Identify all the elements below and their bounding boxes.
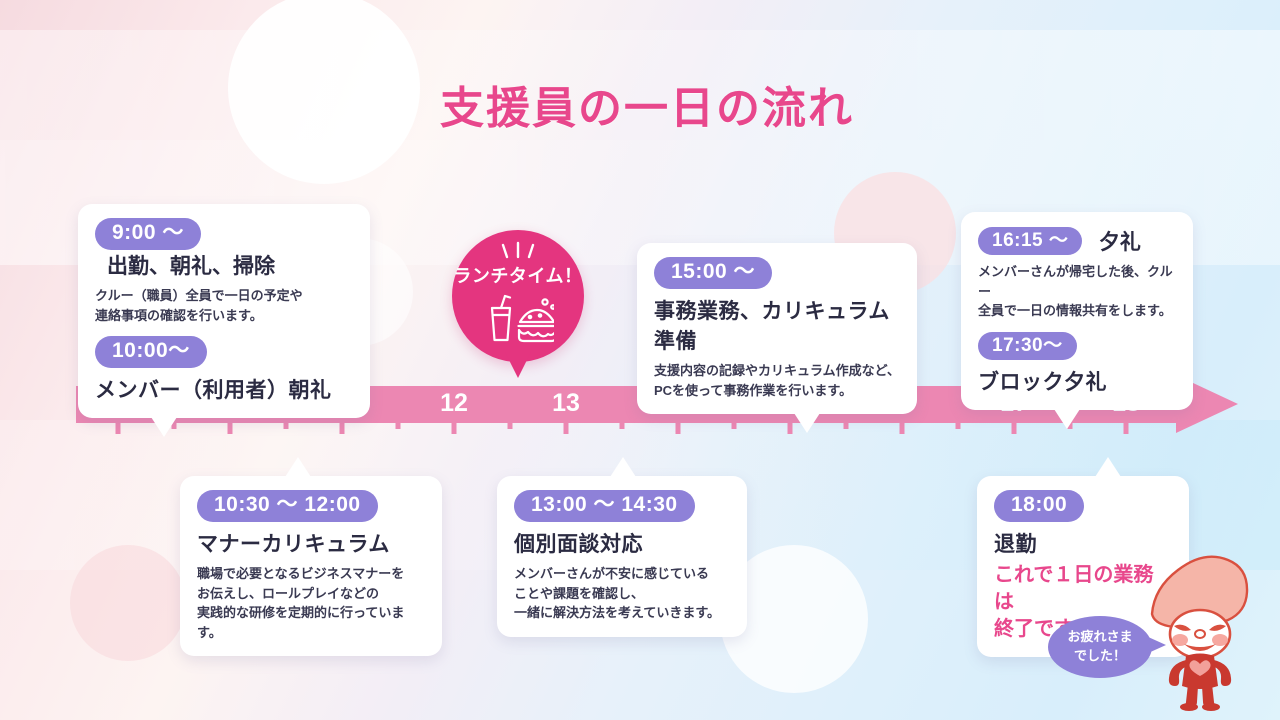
- timeline-tick-major: [228, 423, 233, 434]
- timeline-tick-major: [900, 423, 905, 434]
- heading-evening-meeting: 夕礼: [1099, 226, 1141, 256]
- card-pointer-office: [794, 413, 820, 433]
- burger-drink-icon: [482, 292, 554, 349]
- mascot-bubble-line-1: お疲れさま: [1067, 628, 1132, 647]
- heading-leave-work: 退勤: [994, 528, 1173, 558]
- card-office[interactable]: 15:00 〜 事務業務、カリキュラム準備 支援内容の記録やカリキュラム作成など…: [637, 243, 917, 414]
- badge-time-1000: 10:00〜: [95, 336, 207, 368]
- card-pointer-evening: [1054, 409, 1080, 429]
- timeline-hour-13: 13: [552, 389, 580, 418]
- timeline-tick-major: [676, 423, 681, 434]
- timeline-tick-minor: [844, 423, 849, 429]
- card-interview[interactable]: 13:00 〜 14:30 個別面談対応 メンバーさんが不安に感じている ことや…: [497, 476, 747, 637]
- card-pointer-interview: [610, 457, 636, 477]
- mascot-speech-bubble: お疲れさま でした！: [1048, 616, 1152, 678]
- timeline-tick-minor: [620, 423, 625, 429]
- desc-office: 支援内容の記録やカリキュラム作成など、 PCを使って事務作業を行います。: [654, 361, 901, 400]
- heading-manner-curriculum: マナーカリキュラム: [197, 528, 426, 558]
- timeline-tick-minor: [956, 423, 961, 429]
- decorative-circle-pink-bottom-left: [70, 545, 186, 661]
- heading-block-evening-meeting: ブロック夕礼: [978, 366, 1177, 396]
- card-pointer-morning: [151, 417, 177, 437]
- timeline-tick-minor: [284, 423, 289, 429]
- lunch-label: ランチタイム！: [452, 262, 584, 288]
- badge-time-1615: 16:15 〜: [978, 227, 1082, 256]
- badge-time-1300-1430: 13:00 〜 14:30: [514, 490, 695, 522]
- timeline-tick-major: [564, 423, 569, 434]
- timeline-tick-minor: [732, 423, 737, 429]
- badge-time-1030-1200: 10:30 〜 12:00: [197, 490, 378, 522]
- card-pointer-leave: [1095, 457, 1121, 477]
- bubble-lunch-tail: [505, 352, 531, 378]
- badge-time-1500: 15:00 〜: [654, 257, 772, 289]
- mascot-bubble-line-2: でした！: [1067, 647, 1132, 666]
- timeline-tick-major: [340, 423, 345, 434]
- page-title: 支援員の一日の流れ: [440, 72, 854, 136]
- heading-member-morning-meeting: メンバー（利用者）朝礼: [95, 374, 354, 404]
- card-manner[interactable]: 10:30 〜 12:00 マナーカリキュラム 職場で必要となるビジネスマナーを…: [180, 476, 442, 656]
- heading-individual-interview: 個別面談対応: [514, 528, 731, 558]
- decorative-circle-white-top: [228, 0, 420, 184]
- heading-office-work: 事務業務、カリキュラム準備: [654, 295, 901, 355]
- mascot-character-icon: [1148, 552, 1256, 712]
- slide-canvas: 支援員の一日の流れ 9101112131415161718 9:00 〜 出勤、…: [0, 0, 1280, 720]
- timeline-tick-minor: [508, 423, 513, 429]
- timeline-tick-major: [1124, 423, 1129, 434]
- card-morning[interactable]: 9:00 〜 出勤、朝礼、掃除 クルー（職員）全員で一日の予定や 連絡事項の確認…: [78, 204, 370, 418]
- timeline-tick-major: [116, 423, 121, 434]
- desc-evening: メンバーさんが帰宅した後、クルー 全員で一日の情報共有をします。: [978, 262, 1177, 321]
- sparkle-icon: [452, 241, 584, 261]
- badge-time-1800: 18:00: [994, 490, 1084, 522]
- badge-time-0900: 9:00 〜: [95, 218, 201, 250]
- card-evening[interactable]: 16:15 〜 夕礼 メンバーさんが帰宅した後、クルー 全員で一日の情報共有をし…: [961, 212, 1193, 410]
- timeline-tick-minor: [396, 423, 401, 429]
- timeline-tick-major: [788, 423, 793, 434]
- badge-time-1730: 17:30〜: [978, 332, 1077, 361]
- desc-morning: クルー（職員）全員で一日の予定や 連絡事項の確認を行います。: [95, 286, 354, 325]
- heading-morning-duties: 出勤、朝礼、掃除: [107, 250, 275, 280]
- card-pointer-manner: [285, 457, 311, 477]
- bubble-lunch-time[interactable]: ランチタイム！: [452, 230, 584, 362]
- timeline-tick-minor: [1180, 423, 1185, 429]
- desc-interview: メンバーさんが不安に感じている ことや課題を確認し、 一緒に解決方法を考えていき…: [514, 564, 731, 623]
- timeline-tick-major: [452, 423, 457, 434]
- desc-manner: 職場で必要となるビジネスマナーを お伝えし、ロールプレイなどの 実践的な研修を定…: [197, 564, 426, 642]
- timeline-tick-major: [1012, 423, 1017, 434]
- timeline-hour-12: 12: [440, 389, 468, 418]
